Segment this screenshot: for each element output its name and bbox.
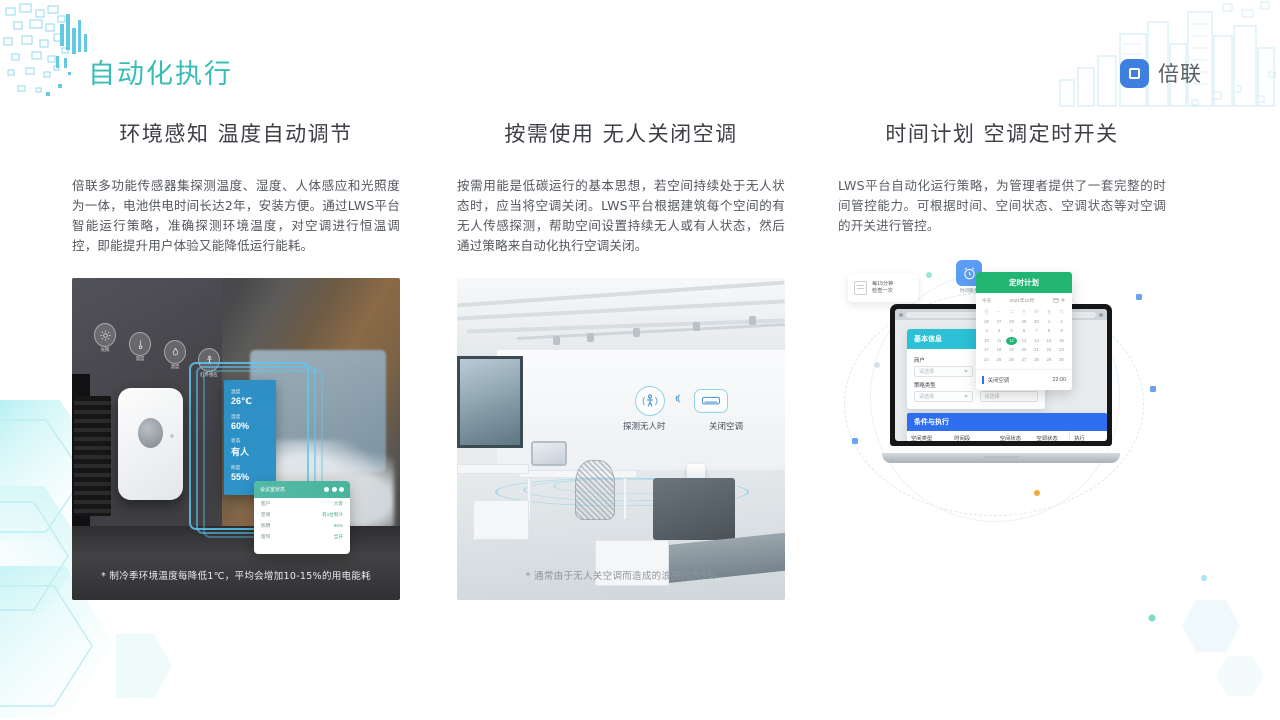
- column-title: 时间计划 空调定时开关: [838, 118, 1166, 148]
- table-header-row: 空间类型 时间段 空间状态 空调状态 执行: [907, 431, 1107, 441]
- calendar-dow: 一: [994, 308, 1005, 316]
- calendar-dow: 三: [1019, 308, 1030, 316]
- column-body: LWS平台自动化运行策略，为管理者提供了一套完整的时间管控能力。可根据时间、空间…: [838, 176, 1166, 236]
- document-search-icon: [854, 281, 867, 295]
- schedule-panel: 定时计划 今天 2021年10月 日一二三四五六2627282930123456…: [976, 272, 1072, 390]
- card-row: 窗帘 全开: [254, 531, 350, 542]
- card-row: 空调 有3台制冷: [254, 509, 350, 520]
- office-photo: 探测无人时 关闭空调 * 通常由于无人关空调而造成的浪费约为5%: [457, 278, 785, 600]
- calendar-day[interactable]: 10: [981, 337, 992, 345]
- droplet-icon: 湿度: [164, 340, 186, 364]
- chip-label: 光照: [101, 347, 110, 353]
- calendar-day[interactable]: 3: [981, 327, 992, 335]
- calendar-day[interactable]: 7: [1031, 327, 1042, 335]
- tip-line-1: 每15分钟: [872, 281, 893, 287]
- dot-square-decoration: [1136, 294, 1142, 300]
- calendar-dow: 六: [1056, 308, 1067, 316]
- calendar-dow: 五: [1044, 308, 1055, 316]
- schedule-item-name: 关闭空调: [988, 376, 1010, 384]
- data-row: 状态 有人: [231, 438, 269, 458]
- calendar-day[interactable]: 25: [994, 356, 1005, 364]
- calendar-day[interactable]: 26: [981, 318, 992, 326]
- schedule-item-time: 22:00: [1053, 377, 1067, 383]
- dot-decoration: [926, 272, 932, 278]
- calendar-icon[interactable]: [1053, 297, 1059, 303]
- remark-input[interactable]: 请选择: [980, 391, 1039, 402]
- schedule-item[interactable]: 关闭空调 22:00: [976, 369, 1072, 390]
- calendar-day[interactable]: 4: [994, 327, 1005, 335]
- image-caption: * 通常由于无人关空调而造成的浪费约为5%: [457, 568, 785, 582]
- calendar-day[interactable]: 29: [1044, 356, 1055, 364]
- strategy-type-select[interactable]: 请选择: [914, 391, 973, 402]
- calendar-day[interactable]: 28: [1031, 356, 1042, 364]
- badge-label: 关闭空调: [709, 420, 743, 432]
- feature-column-environment: 环境感知 温度自动调节 倍联多功能传感器集探测温度、湿度、人体感应和光照度为一体…: [72, 110, 400, 600]
- chip-label: 温度: [136, 356, 145, 362]
- feature-column-occupancy: 按需使用 无人关闭空调 按需用能是低碳运行的基本思想，若空间持续处于无人状态时，…: [457, 110, 785, 600]
- calendar-day[interactable]: 27: [1019, 356, 1030, 364]
- condition-table: 空间类型 时间段 空间状态 空调状态 执行 公共办公区 22:00-07:00: [907, 431, 1107, 441]
- feature-column-schedule: 时间计划 空调定时开关 LWS平台自动化运行策略，为管理者提供了一套完整的时间管…: [838, 110, 1166, 558]
- browser-dot-icon: [1099, 313, 1103, 317]
- badge-row: [635, 386, 728, 416]
- calendar-day[interactable]: 16: [1056, 337, 1067, 345]
- calendar-day[interactable]: 15: [1044, 337, 1055, 345]
- column-title: 按需使用 无人关闭空调: [457, 118, 785, 148]
- brand-name: 倍联: [1158, 58, 1202, 88]
- month-label[interactable]: 2021年10月: [1010, 298, 1035, 304]
- air-conditioner-icon: [694, 389, 728, 413]
- condition-execution-panel: 条件与执行 空间类型 时间段 空间状态 空调状态 执行: [907, 413, 1107, 441]
- browser-dot-icon: [899, 313, 903, 317]
- schedule-mockup: 每15分钟 检查一次 时间服务: [838, 258, 1166, 558]
- sensor-photo: 光照 温度 湿度 红外感应: [72, 278, 400, 600]
- dot-square-decoration: [852, 438, 858, 444]
- add-icon[interactable]: [1060, 297, 1066, 303]
- status-dots-icon: [324, 487, 344, 492]
- multi-sensor-device: [118, 388, 183, 500]
- card-row: 客户 大客: [254, 498, 350, 509]
- badge-labels: 探测无人时 关闭空调: [623, 420, 743, 432]
- calendar-dow: 日: [981, 308, 992, 316]
- sensor-data-panel: 温度 26℃ 湿度 60% 状态 有人 照度 55%: [224, 380, 276, 495]
- calendar-day[interactable]: 24: [981, 356, 992, 364]
- calendar-day[interactable]: 28: [1006, 318, 1017, 326]
- today-button[interactable]: 今天: [982, 298, 991, 304]
- rounded-square-logo-icon: [1120, 59, 1149, 88]
- form-field: 策略类型 请选择: [914, 381, 973, 402]
- calendar-day[interactable]: 8: [1044, 327, 1055, 335]
- column-body: 倍联多功能传感器集探测温度、湿度、人体感应和光照度为一体，电池供电时间长达2年，…: [72, 176, 400, 256]
- calendar-day[interactable]: 20: [1019, 346, 1030, 354]
- calendar-day[interactable]: 1: [1044, 318, 1055, 326]
- calendar-day[interactable]: 30: [1031, 318, 1042, 326]
- data-row: 照度 55%: [231, 465, 269, 482]
- calendar-dow: 二: [1006, 308, 1017, 316]
- dot-square-decoration: [1150, 386, 1156, 392]
- dot-decoration: [1034, 490, 1040, 496]
- sun-icon: 光照: [94, 323, 116, 347]
- brand-logo: 倍联: [1120, 58, 1202, 88]
- thermometer-icon: 温度: [129, 332, 151, 356]
- calendar-day[interactable]: 26: [1006, 356, 1017, 364]
- calendar-day[interactable]: 19: [1006, 346, 1017, 354]
- calendar-day[interactable]: 14: [1031, 337, 1042, 345]
- motion-sensor-icon: [635, 386, 665, 416]
- calendar-day[interactable]: 27: [994, 318, 1005, 326]
- panel-title: 条件与执行: [907, 413, 1107, 431]
- calendar-day[interactable]: 12: [1006, 337, 1017, 345]
- tip-line-2: 检查一次: [872, 288, 893, 294]
- calendar-day[interactable]: 22: [1044, 346, 1055, 354]
- check-interval-tip: 每15分钟 检查一次: [848, 274, 918, 302]
- calendar-day[interactable]: 29: [1019, 318, 1030, 326]
- calendar-day[interactable]: 13: [1019, 337, 1030, 345]
- card-row: 照明 85%: [254, 520, 350, 531]
- panel-title: 定时计划: [976, 272, 1072, 293]
- room-status-card: 会议室状态 客户 大客 空调 有3台制冷 照明 85% 窗帘 全开: [254, 481, 350, 554]
- form-field: 商户 请选择: [914, 356, 973, 377]
- data-row: 温度 26℃: [231, 389, 269, 407]
- column-title: 环境感知 温度自动调节: [72, 118, 400, 148]
- data-row: 湿度 60%: [231, 414, 269, 431]
- badge-label: 探测无人时: [623, 420, 666, 432]
- merchant-select[interactable]: 请选择: [914, 366, 973, 377]
- page-header: 自动化执行 倍联: [0, 0, 1280, 110]
- calendar-day[interactable]: 11: [994, 337, 1005, 345]
- dot-decoration: [874, 362, 880, 368]
- calendar-day[interactable]: 17: [981, 346, 992, 354]
- calendar-day[interactable]: 18: [994, 346, 1005, 354]
- calendar-day[interactable]: 5: [1006, 327, 1017, 335]
- calendar-dow: 四: [1031, 308, 1042, 316]
- calendar-day[interactable]: 6: [1019, 327, 1030, 335]
- image-caption: * 制冷季环境温度每降低1℃，平均会增加10-15%的用电能耗: [72, 568, 400, 582]
- card-title: 会议室状态: [260, 486, 285, 493]
- chip-label: 湿度: [171, 364, 180, 370]
- calendar-day[interactable]: 2: [1056, 318, 1067, 326]
- wifi-signal-icon: [673, 392, 686, 410]
- calendar-day[interactable]: 23: [1056, 346, 1067, 354]
- calendar-day[interactable]: 9: [1056, 327, 1067, 335]
- page-title: 自动化执行: [88, 52, 233, 91]
- column-body: 按需用能是低碳运行的基本思想，若空间持续处于无人状态时，应当将空调关闭。LWS平…: [457, 176, 785, 256]
- calendar-day[interactable]: 21: [1031, 346, 1042, 354]
- hex-dot-decoration: [1100, 570, 1280, 720]
- calendar-day[interactable]: 30: [1056, 356, 1067, 364]
- nav-icons[interactable]: [1053, 297, 1066, 304]
- calendar-grid[interactable]: 日一二三四五六262728293012345678910111213141516…: [976, 308, 1072, 369]
